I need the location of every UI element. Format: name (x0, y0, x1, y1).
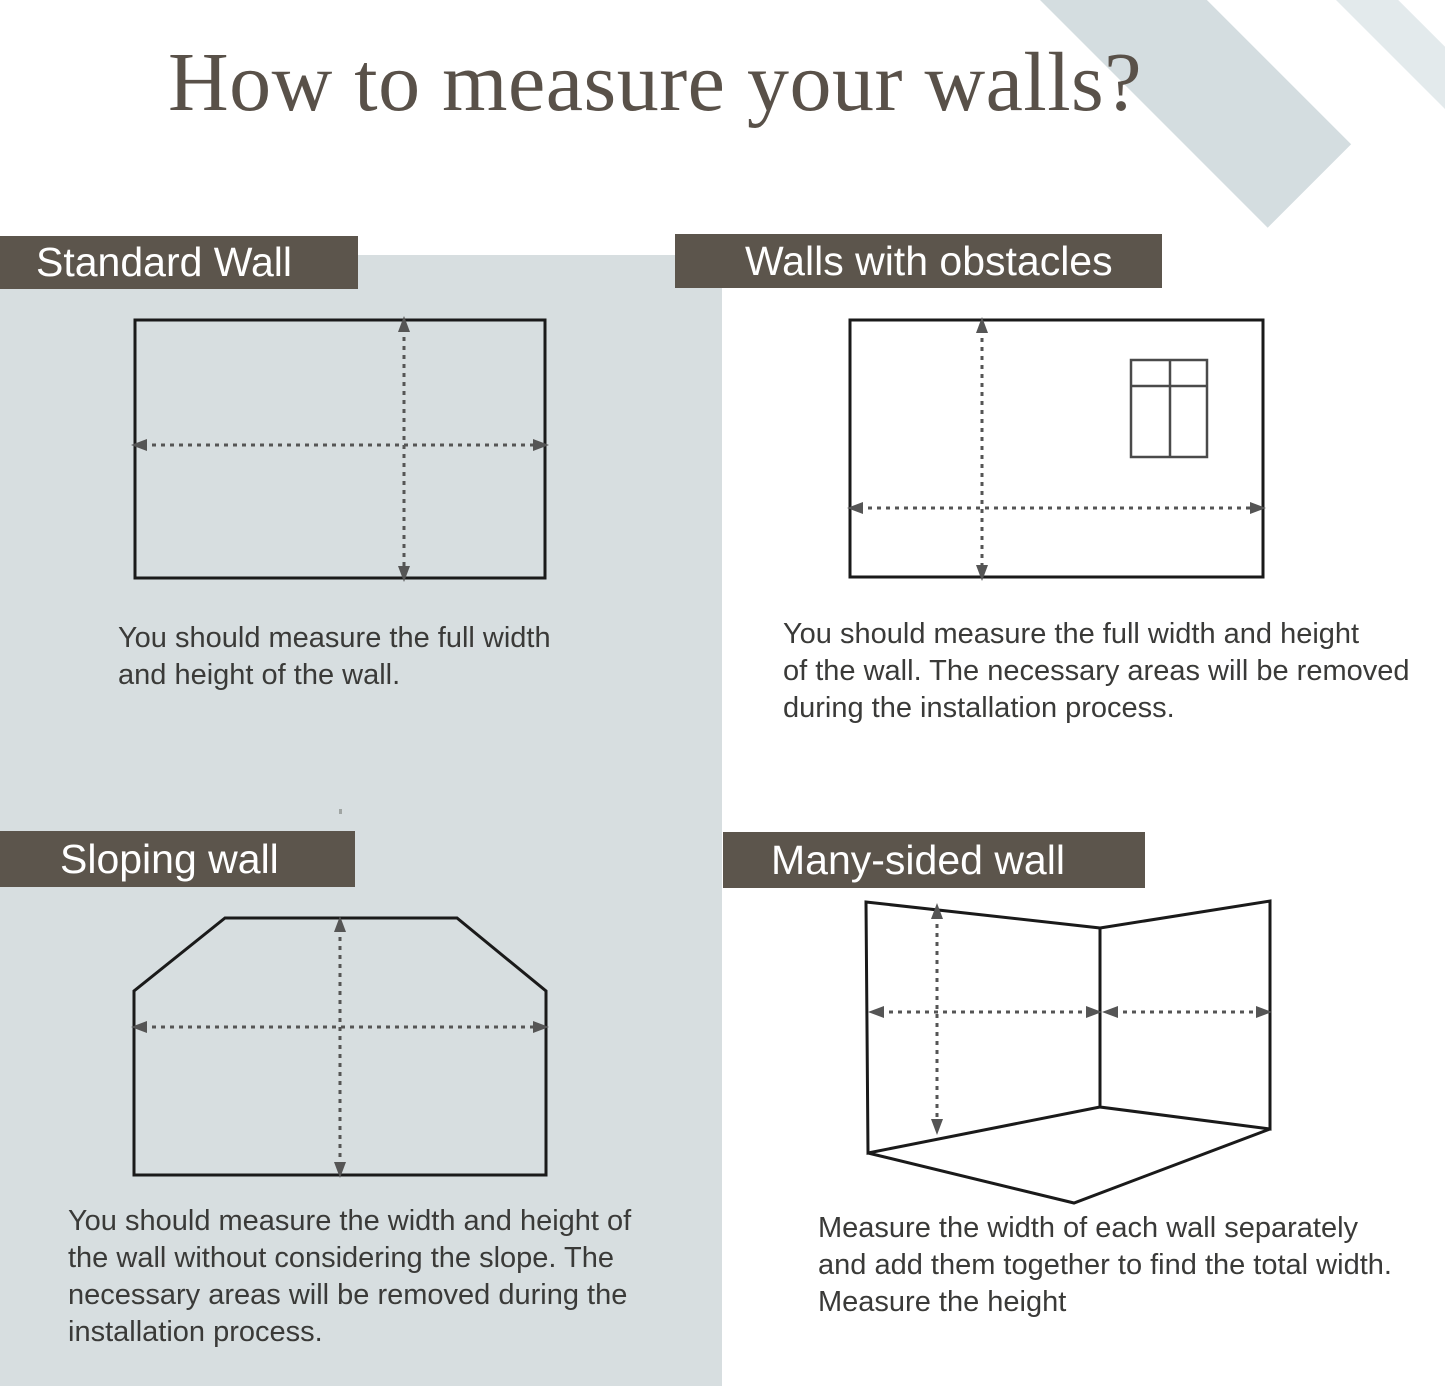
artifact-speck (339, 809, 342, 814)
section-heading-sloping-wall: Sloping wall (0, 831, 355, 887)
caption-walls-with-obstacles: You should measure the full width and he… (783, 616, 1423, 727)
section-heading-standard-wall: Standard Wall (0, 236, 358, 289)
section-heading-walls-with-obstacles: Walls with obstacles (675, 234, 1162, 288)
caption-sloping-wall: You should measure the width and height … (68, 1203, 668, 1351)
page-title: How to measure your walls? (0, 34, 1310, 131)
standard-wall-diagram (120, 300, 580, 600)
sloping-wall-diagram (110, 890, 580, 1200)
section-heading-many-sided-wall: Many-sided wall (723, 832, 1145, 888)
caption-many-sided-wall: Measure the width of each wall separatel… (818, 1210, 1428, 1321)
window-icon (1131, 360, 1207, 457)
many-sided-wall-diagram (840, 885, 1310, 1215)
infographic-page: How to measure your walls? Standard Wall… (0, 0, 1445, 1386)
caption-standard-wall: You should measure the full width and he… (118, 620, 638, 694)
obstacle-wall-diagram (830, 300, 1290, 600)
